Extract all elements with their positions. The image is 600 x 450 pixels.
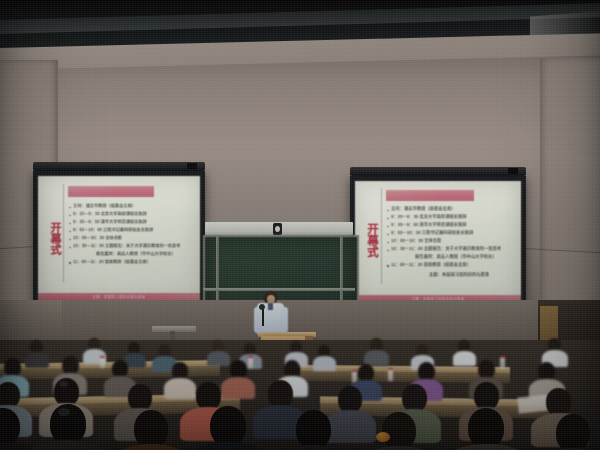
right-slide-bullet-0 [387,210,389,212]
water-bottle-5 [388,368,393,381]
person-shoulders [313,356,336,371]
person-head [338,386,362,413]
right-slide-bullet-5 [387,250,389,252]
person-shoulders [25,352,49,368]
microphone-head-icon [259,304,265,310]
right-slide-line-8: 主题：本届研习班的目的与愿景 [429,272,521,278]
left-screen-roller [33,162,205,171]
right-slide-bullet-1 [387,218,389,220]
person-head [546,388,571,416]
bottle-cap [248,356,253,358]
left-screen-surface: 开幕式 主持：潘志华教授（组委会主席） 9：20－9：35 北京大学高校课程长致… [38,176,200,302]
left-slide-bullet-3 [69,231,71,233]
person-head [296,410,331,449]
left-slide-line-5: 10：30－11：00 主题报告：关于大学通识教育的一些思考 [73,243,195,249]
person-head [474,382,499,410]
person-head [268,380,293,408]
bottle-cap [100,356,105,358]
left-slide-vertical-title: 开幕式 [46,222,60,255]
open-notebook-1 [517,394,549,413]
speaker-right-arm [280,307,288,333]
person-shoulders [221,377,255,399]
left-slide-bullet-7 [69,262,71,264]
person-head [196,382,221,410]
water-bottle-3 [500,356,505,369]
left-slide-line-7: 11：00－11：20 首席教授（组委会主席） [73,259,195,265]
water-bottle-2 [248,356,253,368]
person-head [128,384,152,411]
person-head [382,412,416,450]
right-slide-bullet-7 [387,265,389,267]
hair-accessory-icon [376,432,390,442]
person-shoulders [207,351,230,366]
right-slide-line-7: 11：00－11：20 首席教授（组委会主席） [391,262,517,268]
right-screen-roller [350,167,526,176]
speaker-collar [268,303,273,310]
speaker-left-arm [254,307,262,333]
bottle-cap [500,356,505,358]
right-slide-line-1: 9：20－9：35 北京大学高校课程长致辞 [391,214,517,220]
chalkboard-mid-rail [203,288,355,291]
left-screen-roller-knob [187,163,197,169]
person-hair-highlight [59,381,68,387]
left-slide-line-3: 9：50－10：00 三院书记兼科研处处长致辞 [73,227,195,233]
person-hair-highlight [58,408,70,416]
bottle-cap [352,370,357,372]
left-slide-bullet-0 [69,207,71,209]
right-slide-bullet-2 [387,226,389,228]
water-bottle-1 [100,356,105,368]
left-slide-bullet-1 [69,215,71,217]
left-slide-bullet-2 [69,223,71,225]
left-slide-line-6: 报告嘉宾：高远人教授（华中山大学校长） [96,251,196,257]
lecture-hall-photo: 开幕式 主持：潘志华教授（组委会主席） 9：20－9：35 北京大学高校课程长致… [0,0,600,450]
person-head [134,410,168,448]
left-slide-bullet-5 [69,247,71,249]
right-slide-divider [381,188,382,284]
left-slide-line-1: 9：20－9：35 北京大学高校课程长致辞 [73,211,195,217]
right-slide-line-4: 10：00－10：30 全体合影 [391,238,517,244]
right-screen-surface: 开幕式 主持：潘志华教授（组委会主席） 9：20－9：35 北京大学高校课程长致… [355,181,521,304]
right-slide-line-6: 报告嘉宾：高远人教授（华中山大学校长） [415,254,519,260]
right-slide-line-3: 9：50－10：00 三院书记兼科研处处长致辞 [391,230,517,236]
right-slide-line-0: 主持：潘志华教授（组委会主席） [391,206,517,212]
left-slide-line-2: 9：35－9：50 清华大学师范课程长致辞 [73,219,195,225]
person-head [402,384,427,412]
left-slide-bullet-4 [69,239,71,241]
person-shoulders [453,351,476,366]
left-slide-divider [63,184,64,282]
person-head [556,414,590,450]
right-slide-line-5: 10：30－11：00 主题报告：关于大学通识教育的一些思考 [391,246,517,252]
ceiling-camera-icon [273,223,282,235]
left-slide-line-0: 主持：潘志华教授（组委会主席） [73,203,195,209]
right-slide-bullet-4 [387,242,389,244]
person-head [210,406,246,446]
person-shoulders [324,410,376,443]
left-slide-header-band [68,186,154,197]
left-slide-line-4: 10：00－10：30 全体合影 [73,235,195,241]
right-slide-bullet-3 [387,234,389,236]
right-slide-header-band [386,190,474,201]
person-head [468,408,504,448]
right-slide-vertical-title: 开幕式 [363,223,377,258]
person-shoulders [164,378,196,399]
bottle-cap [388,368,393,370]
microphone-stand [262,308,264,326]
right-screen-roller-knob [508,168,518,174]
right-slide-line-2: 9：35－9：50 清华大学师范课程长致辞 [391,222,517,228]
